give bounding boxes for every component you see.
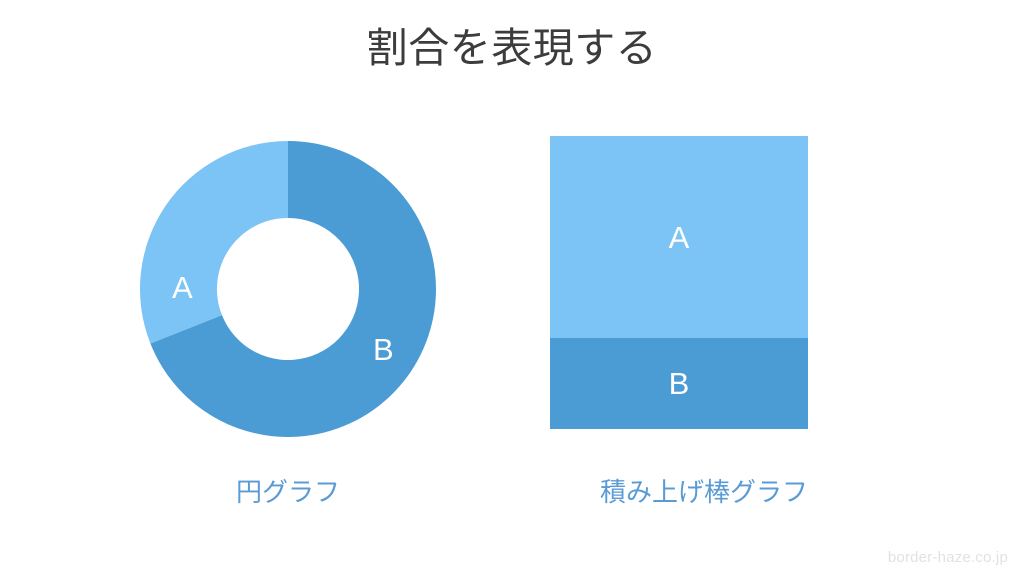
donut-slice-a[interactable] <box>140 141 288 343</box>
watermark: border-haze.co.jp <box>888 548 1008 568</box>
stacked-bar-chart: A B <box>550 136 808 429</box>
donut-chart: A B <box>140 141 436 437</box>
donut-chart-svg <box>140 141 436 437</box>
donut-chart-caption: 円グラフ <box>96 475 480 509</box>
figure-donut-chart: A B 円グラフ <box>96 125 480 515</box>
figure-stacked-bar-chart: A B 積み上げ棒グラフ <box>528 125 880 515</box>
stacked-bar-chart-caption: 積み上げ棒グラフ <box>528 475 880 509</box>
stacked-bar-segment-a-label: A <box>669 222 690 253</box>
stacked-bar-segment-b-label: B <box>669 368 690 399</box>
stacked-bar-segment-a[interactable]: A <box>550 136 808 338</box>
stacked-bar-segment-b[interactable]: B <box>550 338 808 429</box>
page-title: 割合を表現する <box>0 22 1024 74</box>
